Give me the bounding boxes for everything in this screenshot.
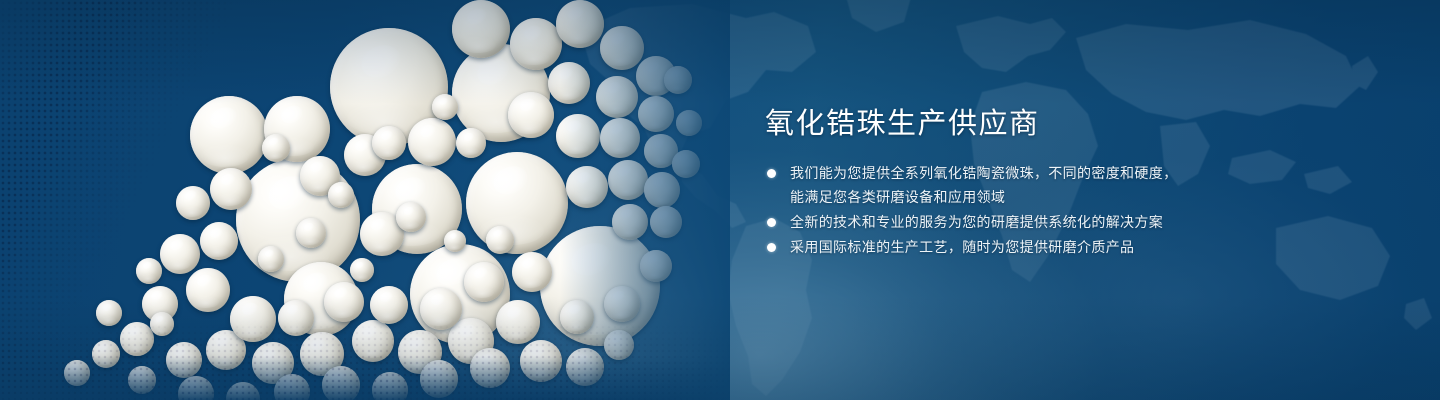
- dot-bullet-icon: [767, 218, 776, 227]
- list-item-line1: 全新的技术和专业的服务为您的研磨提供系统化的解决方案: [790, 210, 1235, 234]
- page-title: 氧化锆珠生产供应商: [765, 104, 1235, 144]
- list-item: 我们能为您提供全系列氧化锆陶瓷微珠，不同的密度和硬度， 能满足您各类研磨设备和应…: [765, 161, 1235, 209]
- list-item: 采用国际标准的生产工艺，随时为您提供研磨介质产品: [765, 235, 1235, 259]
- list-item: 全新的技术和专业的服务为您的研磨提供系统化的解决方案: [765, 210, 1235, 234]
- list-item-line1: 我们能为您提供全系列氧化锆陶瓷微珠，不同的密度和硬度，: [790, 161, 1235, 185]
- list-item-line1: 采用国际标准的生产工艺，随时为您提供研磨介质产品: [790, 235, 1235, 259]
- dot-bullet-icon: [767, 243, 776, 252]
- dot-bullet-icon: [767, 169, 776, 178]
- feature-list: 我们能为您提供全系列氧化锆陶瓷微珠，不同的密度和硬度， 能满足您各类研磨设备和应…: [765, 161, 1235, 259]
- list-item-line2: 能满足您各类研磨设备和应用领域: [790, 185, 1235, 209]
- banner-content: 氧化锆珠生产供应商 我们能为您提供全系列氧化锆陶瓷微珠，不同的密度和硬度， 能满…: [765, 104, 1235, 260]
- hero-banner: 氧化锆珠生产供应商 我们能为您提供全系列氧化锆陶瓷微珠，不同的密度和硬度， 能满…: [0, 0, 1440, 400]
